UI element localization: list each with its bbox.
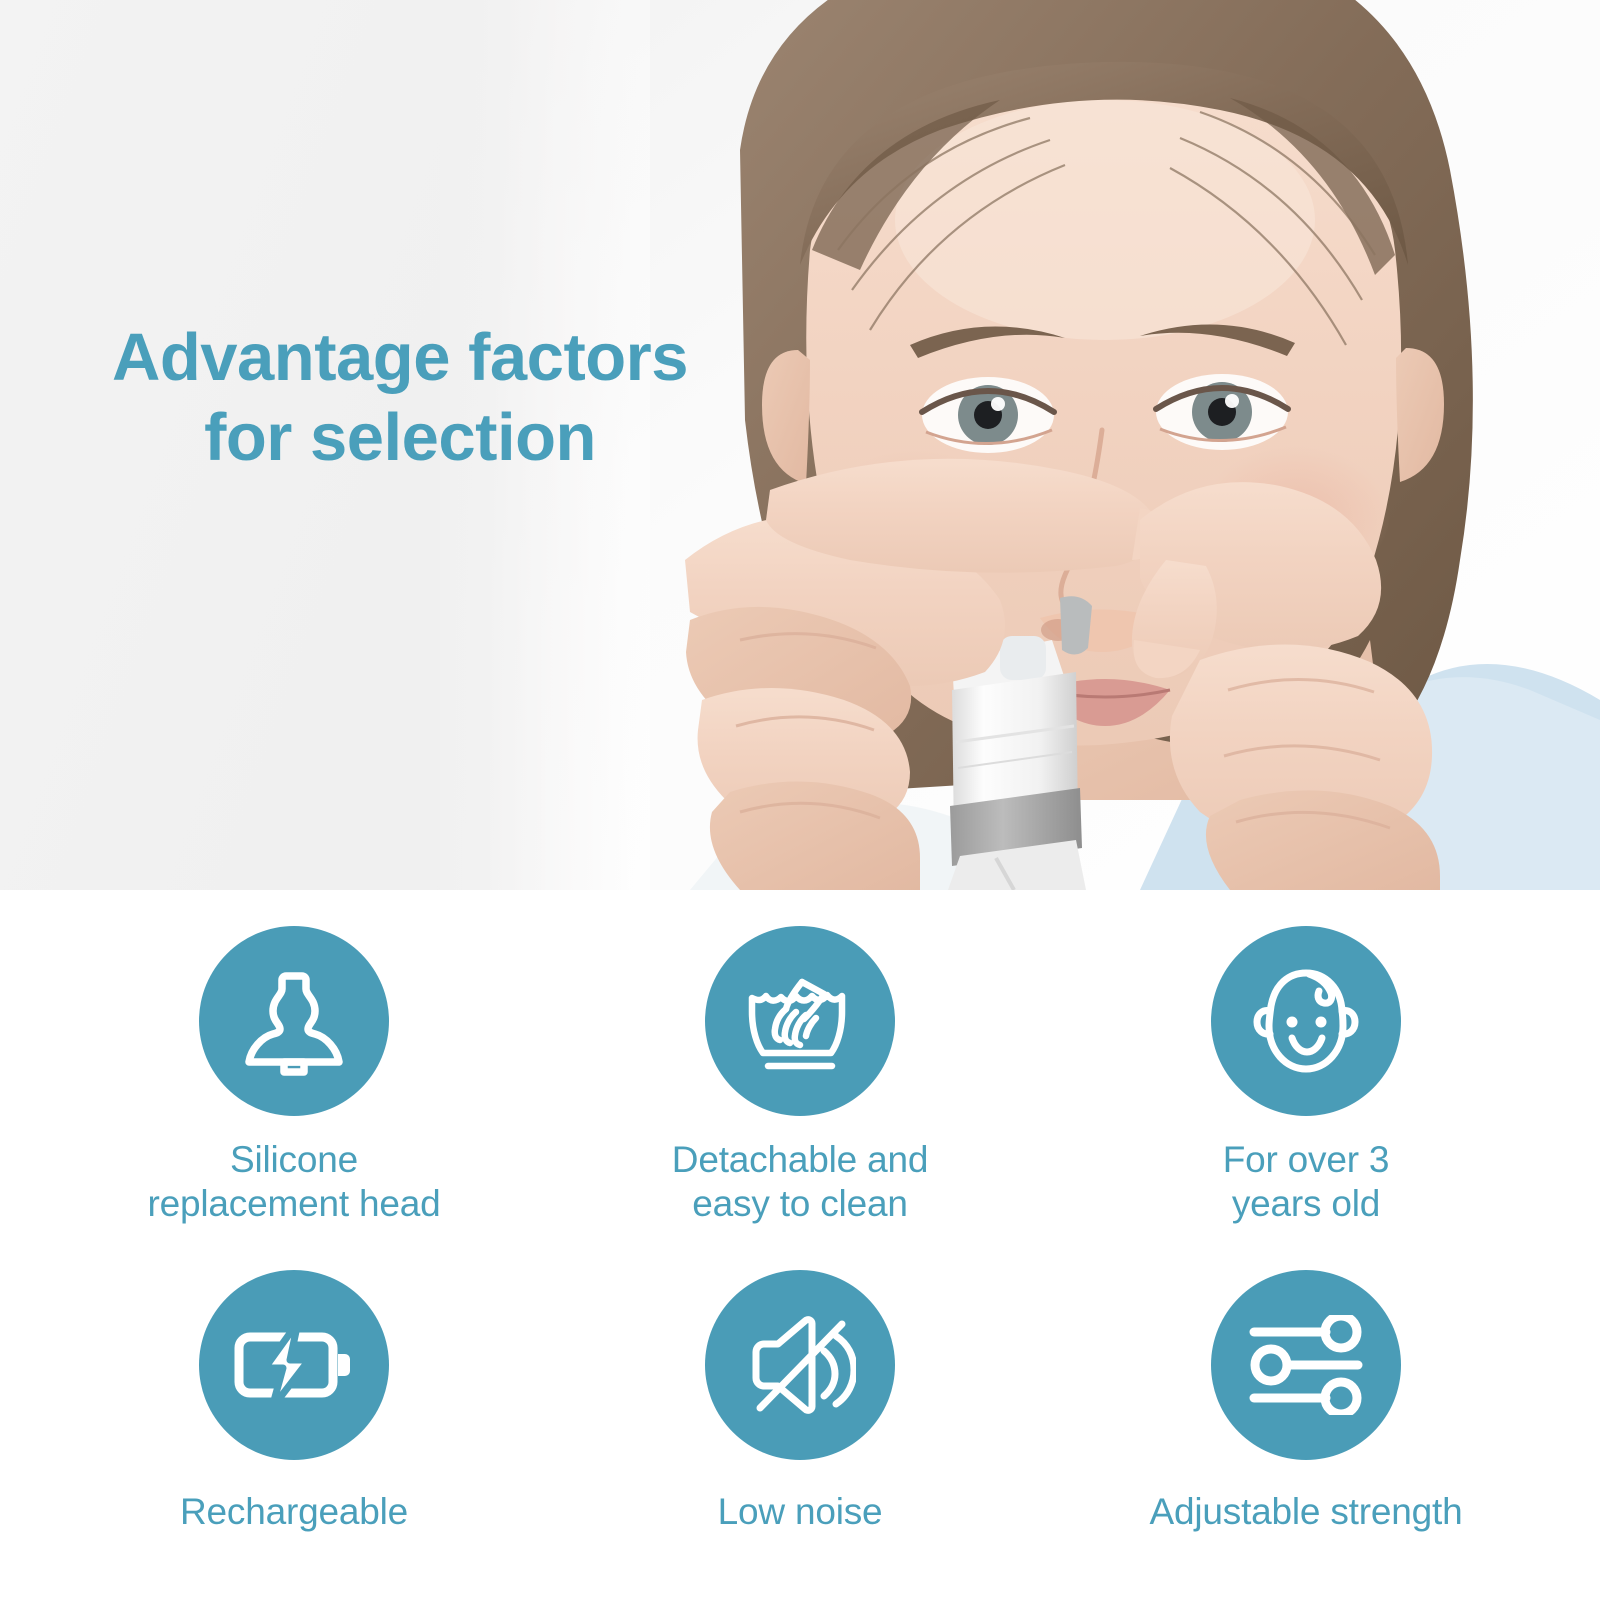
feature-label: Detachable and easy to clean bbox=[672, 1138, 928, 1225]
sliders-adjust-icon bbox=[1247, 1315, 1365, 1415]
feature-icon-circle bbox=[1211, 926, 1401, 1116]
feature-label: Low noise bbox=[718, 1490, 883, 1534]
feature-icon-circle bbox=[199, 1270, 389, 1460]
feature-label: For over 3 years old bbox=[1223, 1138, 1390, 1225]
feature-silicone-replacement-head[interactable]: Silicone replacement head bbox=[41, 926, 547, 1225]
feature-icon-circle bbox=[1211, 1270, 1401, 1460]
feature-adjustable-strength[interactable]: Adjustable strength bbox=[1053, 1270, 1559, 1534]
feature-label: Rechargeable bbox=[180, 1490, 408, 1534]
speaker-muted-icon bbox=[744, 1311, 856, 1419]
feature-icon-circle bbox=[705, 926, 895, 1116]
feature-rechargeable[interactable]: Rechargeable bbox=[41, 1270, 547, 1534]
feature-label: Adjustable strength bbox=[1150, 1490, 1463, 1534]
product-feature-page: Advantage factors for selection Silicone… bbox=[0, 0, 1600, 1600]
feature-detachable-easy-to-clean[interactable]: Detachable and easy to clean bbox=[547, 926, 1053, 1225]
feature-icon-circle bbox=[705, 1270, 895, 1460]
baby-face-icon bbox=[1247, 966, 1365, 1076]
feature-grid: Silicone replacement head bbox=[0, 890, 1600, 1600]
feature-low-noise[interactable]: Low noise bbox=[547, 1270, 1053, 1534]
battery-charging-icon bbox=[234, 1320, 354, 1410]
feature-row-top: Silicone replacement head bbox=[41, 926, 1559, 1225]
feature-label: Silicone replacement head bbox=[148, 1138, 441, 1225]
page-title-line-1: Advantage factors bbox=[0, 318, 800, 398]
feature-row-bottom: Rechargeable Low noise bbox=[41, 1270, 1559, 1534]
silicone-nozzle-icon bbox=[242, 966, 346, 1076]
feature-icon-circle bbox=[199, 926, 389, 1116]
page-title-line-2: for selection bbox=[0, 398, 800, 478]
hero-banner: Advantage factors for selection bbox=[0, 0, 1600, 890]
page-title: Advantage factors for selection bbox=[0, 318, 800, 479]
feature-for-over-3-years-old[interactable]: For over 3 years old bbox=[1053, 926, 1559, 1225]
hand-wash-basin-icon bbox=[744, 968, 856, 1074]
